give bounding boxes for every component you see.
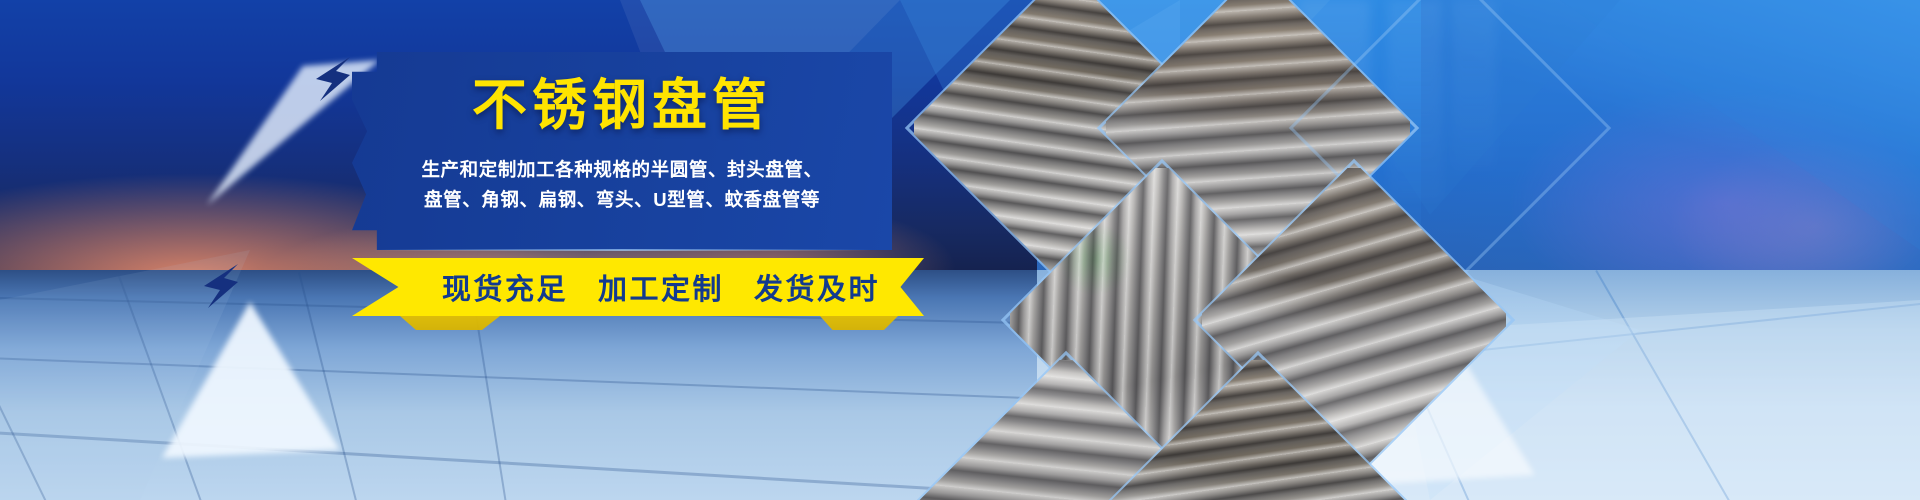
- feature-ribbon-content: 现货充足 加工定制 发货及时: [352, 258, 924, 316]
- subtitle-line-1: 生产和定制加工各种规格的半圆管、封头盘管、: [421, 155, 822, 185]
- glow-triangle-bottom-left: [150, 290, 380, 470]
- feature-item-delivery: 发货及时: [754, 266, 880, 308]
- subtitle-block: 生产和定制加工各种规格的半圆管、封头盘管、 盘管、角钢、扁钢、弯头、U型管、蚊香…: [421, 155, 822, 215]
- product-banner: 不锈钢盘管 生产和定制加工各种规格的半圆管、封头盘管、 盘管、角钢、扁钢、弯头、…: [0, 0, 1920, 500]
- feature-item-stock: 现货充足: [442, 266, 568, 308]
- feature-item-custom: 加工定制: [598, 266, 724, 308]
- panel-divider-rule: [372, 249, 872, 251]
- chevron-arrow-bottom: [196, 262, 240, 310]
- headline-panel-content: 不锈钢盘管 生产和定制加工各种规格的半圆管、封头盘管、 盘管、角钢、扁钢、弯头、…: [352, 52, 892, 250]
- chevron-arrow-top: [306, 55, 352, 105]
- product-photo-diamond-grid: [828, 0, 1588, 500]
- page-title: 不锈钢盘管: [472, 78, 772, 133]
- subtitle-line-2: 盘管、角钢、扁钢、弯头、U型管、蚊香盘管等: [421, 185, 822, 215]
